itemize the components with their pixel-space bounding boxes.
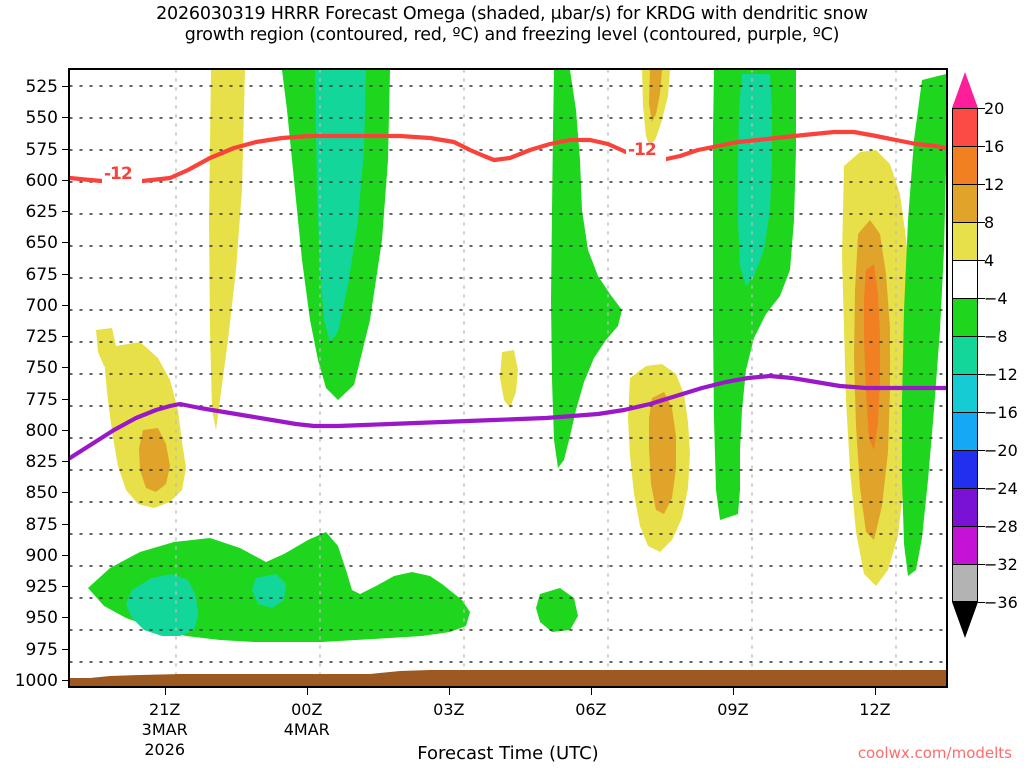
colorbar-tick-label: 8 bbox=[984, 213, 994, 232]
x-axis-label: 09Z bbox=[717, 700, 748, 719]
colorbar-swatch bbox=[952, 488, 978, 526]
terrain-fill bbox=[70, 670, 946, 686]
plot-area: -12 -12 bbox=[68, 68, 948, 688]
dendritic-contour-line bbox=[70, 132, 946, 182]
x-axis-tick bbox=[591, 688, 592, 695]
shade-yellow-4 bbox=[500, 350, 518, 408]
colorbar-tick bbox=[978, 526, 985, 527]
colorbar-tick bbox=[978, 602, 985, 603]
y-axis-tick bbox=[62, 86, 70, 87]
y-axis-label: 925 bbox=[26, 577, 58, 597]
colorbar-tick bbox=[978, 298, 985, 299]
shade-yellow-1 bbox=[209, 70, 245, 430]
y-axis-tick bbox=[62, 680, 70, 681]
y-axis-label: 1000 bbox=[15, 671, 58, 691]
y-axis-label: 950 bbox=[26, 608, 58, 628]
y-axis-label: 650 bbox=[26, 233, 58, 253]
y-axis-tick bbox=[62, 555, 70, 556]
plot-canvas bbox=[70, 70, 946, 686]
colorbar-tick-label: −20 bbox=[984, 441, 1018, 460]
colorbar-bottom-arrow bbox=[952, 602, 978, 638]
colorbar-swatch bbox=[952, 374, 978, 412]
y-axis-tick bbox=[62, 180, 70, 181]
colorbar-tick-label: 4 bbox=[984, 251, 994, 270]
colorbar-tick bbox=[978, 222, 985, 223]
dendritic-contour-label-2: -12 bbox=[628, 140, 656, 160]
colorbar-tick bbox=[978, 564, 985, 565]
chart-page: 2026030319 HRRR Forecast Omega (shaded, … bbox=[0, 0, 1024, 768]
colorbar-swatch bbox=[952, 526, 978, 564]
y-axis-tick bbox=[62, 274, 70, 275]
colorbar-tick-label: 20 bbox=[984, 99, 1004, 118]
y-axis-tick bbox=[62, 149, 70, 150]
page-title: 2026030319 HRRR Forecast Omega (shaded, … bbox=[0, 4, 1024, 46]
colorbar-tick bbox=[978, 108, 985, 109]
y-axis-label: 700 bbox=[26, 296, 58, 316]
colorbar-swatch bbox=[952, 450, 978, 488]
y-axis-label: 600 bbox=[26, 171, 58, 191]
colorbar-tick bbox=[978, 488, 985, 489]
y-axis-label: 675 bbox=[26, 265, 58, 285]
colorbar-swatch bbox=[952, 336, 978, 374]
colorbar-tick-label: −4 bbox=[984, 289, 1008, 308]
y-axis-tick bbox=[62, 117, 70, 118]
y-axis-label: 575 bbox=[26, 140, 58, 160]
colorbar-tick-label: −28 bbox=[984, 517, 1018, 536]
y-axis-tick bbox=[62, 430, 70, 431]
colorbar-swatch bbox=[952, 222, 978, 260]
y-axis-label: 550 bbox=[26, 108, 58, 128]
y-axis-tick bbox=[62, 586, 70, 587]
x-axis-tick bbox=[733, 688, 734, 695]
y-axis-label: 625 bbox=[26, 202, 58, 222]
shade-green-3 bbox=[551, 70, 622, 468]
colorbar-tick bbox=[978, 412, 985, 413]
colorbar-swatch bbox=[952, 146, 978, 184]
y-axis-label: 750 bbox=[26, 358, 58, 378]
x-axis-tick bbox=[449, 688, 450, 695]
colorbar-tick bbox=[978, 374, 985, 375]
y-axis-tick bbox=[62, 211, 70, 212]
x-axis-label: 03Z bbox=[433, 700, 464, 719]
colorbar bbox=[952, 108, 978, 602]
y-axis-tick bbox=[62, 399, 70, 400]
x-axis-tick bbox=[165, 688, 166, 695]
x-axis-label: 06Z bbox=[575, 700, 606, 719]
y-axis-tick bbox=[62, 242, 70, 243]
y-axis-tick bbox=[62, 492, 70, 493]
y-axis-label: 900 bbox=[26, 546, 58, 566]
colorbar-tick-label: 16 bbox=[984, 137, 1004, 156]
colorbar-tick-label: −12 bbox=[984, 365, 1018, 384]
colorbar-swatch bbox=[952, 412, 978, 450]
y-axis-tick bbox=[62, 649, 70, 650]
colorbar-tick bbox=[978, 336, 985, 337]
shade-yellow-3 bbox=[96, 328, 116, 366]
watermark: coolwx.com/modelts bbox=[858, 744, 1012, 762]
y-axis-label: 525 bbox=[26, 77, 58, 97]
colorbar-tick-label: −32 bbox=[984, 555, 1018, 574]
y-axis-tick bbox=[62, 336, 70, 337]
colorbar-tick-label: −8 bbox=[984, 327, 1008, 346]
colorbar-tick bbox=[978, 260, 985, 261]
x-axis-label: 12Z bbox=[859, 700, 890, 719]
y-axis-tick bbox=[62, 305, 70, 306]
colorbar-tick bbox=[978, 146, 985, 147]
x-axis-label: 21Z bbox=[149, 700, 180, 719]
y-axis-label: 725 bbox=[26, 327, 58, 347]
x-axis-title: Forecast Time (UTC) bbox=[68, 743, 948, 764]
colorbar-swatch bbox=[952, 108, 978, 146]
y-axis-tick bbox=[62, 617, 70, 618]
y-axis-label: 975 bbox=[26, 640, 58, 660]
title-line-1: 2026030319 HRRR Forecast Omega (shaded, … bbox=[156, 4, 868, 24]
y-axis-tick bbox=[62, 367, 70, 368]
y-axis-label: 825 bbox=[26, 452, 58, 472]
y-axis-tick bbox=[62, 461, 70, 462]
dendritic-contour-label-1: -12 bbox=[104, 164, 132, 184]
title-line-2: growth region (contoured, red, ºC) and f… bbox=[0, 25, 1024, 46]
colorbar-swatch bbox=[952, 564, 978, 602]
colorbar-tick-label: 12 bbox=[984, 175, 1004, 194]
colorbar-swatch bbox=[952, 298, 978, 336]
colorbar-tick-label: −24 bbox=[984, 479, 1018, 498]
x-axis-tick bbox=[307, 688, 308, 695]
colorbar-top-arrow bbox=[952, 72, 978, 108]
colorbar-swatch bbox=[952, 260, 978, 298]
colorbar-tick-label: −36 bbox=[984, 593, 1018, 612]
x-axis-sublabel-date: 4MAR bbox=[284, 720, 330, 739]
colorbar-tick bbox=[978, 184, 985, 185]
colorbar-tick-label: −16 bbox=[984, 403, 1018, 422]
x-axis-tick bbox=[875, 688, 876, 695]
x-axis-label: 00Z bbox=[291, 700, 322, 719]
colorbar-swatch bbox=[952, 184, 978, 222]
shade-green-5 bbox=[902, 74, 946, 576]
y-axis-label: 775 bbox=[26, 390, 58, 410]
y-axis-label: 800 bbox=[26, 421, 58, 441]
y-axis-label: 875 bbox=[26, 515, 58, 535]
y-axis-tick bbox=[62, 524, 70, 525]
shade-green-6 bbox=[536, 588, 578, 632]
x-axis-sublabel-date: 3MAR bbox=[142, 720, 188, 739]
colorbar-tick bbox=[978, 450, 985, 451]
y-axis-label: 850 bbox=[26, 483, 58, 503]
